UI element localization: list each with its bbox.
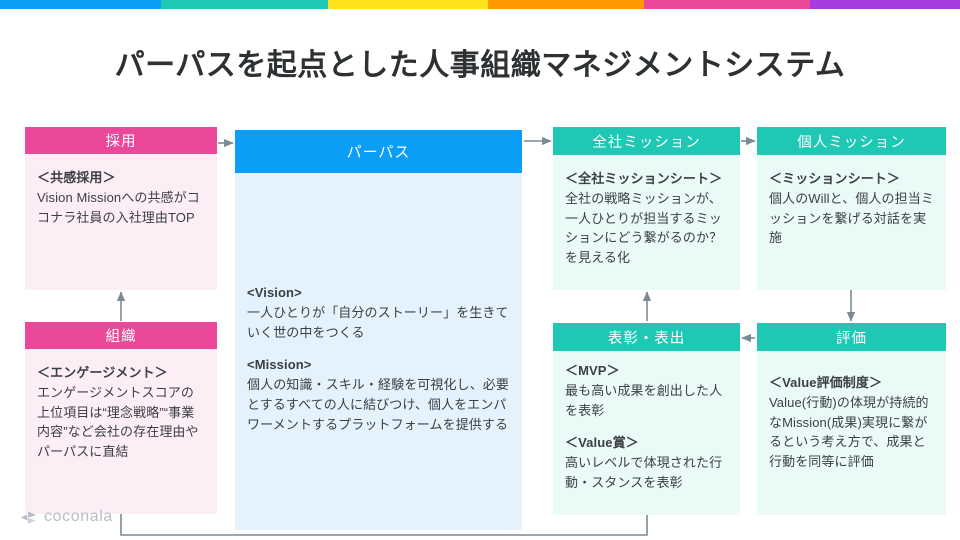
card-personal-mission-header: 個人ミッション <box>757 127 946 155</box>
card-evaluation[interactable]: 評価 ＜Value評価制度＞ Value(行動)の体現が持続的なMission(… <box>757 323 946 515</box>
page-title: パーパスを起点とした人事組織マネジメントシステム <box>0 40 960 84</box>
card-purpose-mission-lead: <Mission> <box>247 355 510 375</box>
card-evaluation-header: 評価 <box>757 323 946 351</box>
card-award-mvp-text: 最も高い成果を創出した人を表彰 <box>565 381 728 421</box>
top-bar-segment-yellow <box>328 0 488 9</box>
card-org-lead: ＜エンゲージメント＞ <box>37 363 205 383</box>
card-award-value-text: 高いレベルで体現された行動・スタンスを表彰 <box>565 453 728 493</box>
top-bar-segment-blue <box>0 0 161 9</box>
card-evaluation-body: ＜Value評価制度＞ Value(行動)の体現が持続的なMission(成果)… <box>757 351 946 515</box>
card-personal-mission-text: 個人のWillと、個人の担当ミッションを繋げる対話を実施 <box>769 189 934 248</box>
card-recruit-lead: ＜共感採用＞ <box>37 168 205 188</box>
card-recruit[interactable]: 採用 ＜共感採用＞ Vision Missionへの共感がココナラ社員の入社理由… <box>25 127 217 290</box>
top-bar-segment-pink <box>644 0 810 9</box>
card-purpose-body: <Vision> 一人ひとりが「自分のストーリー」を生きていく世の中をつくる <… <box>235 173 522 530</box>
card-purpose[interactable]: パーパス <Vision> 一人ひとりが「自分のストーリー」を生きていく世の中を… <box>235 130 522 530</box>
card-purpose-vision-text: 一人ひとりが「自分のストーリー」を生きていく世の中をつくる <box>247 303 510 343</box>
card-recruit-body: ＜共感採用＞ Vision Missionへの共感がココナラ社員の入社理由TOP <box>25 154 217 290</box>
card-company-mission-lead: ＜全社ミッションシート＞ <box>565 169 728 189</box>
card-org-text: エンゲージメントスコアの上位項目は“理念戦略”“事業内容”など会社の存在理由やパ… <box>37 383 205 462</box>
coconala-logo: coconala <box>20 508 113 526</box>
card-award-body: ＜MVP＞ 最も高い成果を創出した人を表彰 ＜Value賞＞ 高いレベルで体現さ… <box>553 351 740 515</box>
card-award[interactable]: 表彰・表出 ＜MVP＞ 最も高い成果を創出した人を表彰 ＜Value賞＞ 高いレ… <box>553 323 740 515</box>
coconala-wordmark: coconala <box>44 508 113 526</box>
card-company-mission[interactable]: 全社ミッション ＜全社ミッションシート＞ 全社の戦略ミッションが、一人ひとりが担… <box>553 127 740 290</box>
card-personal-mission[interactable]: 個人ミッション ＜ミッションシート＞ 個人のWillと、個人の担当ミッションを繋… <box>757 127 946 290</box>
top-bar-segment-orange <box>488 0 644 9</box>
card-award-mvp-lead: ＜MVP＞ <box>565 361 728 381</box>
card-personal-mission-body: ＜ミッションシート＞ 個人のWillと、個人の担当ミッションを繋げる対話を実施 <box>757 155 946 290</box>
card-purpose-spacer <box>247 342 510 355</box>
coconala-mark-icon <box>20 510 37 525</box>
card-purpose-header: パーパス <box>235 130 522 173</box>
card-company-mission-header: 全社ミッション <box>553 127 740 155</box>
card-purpose-mission-text: 個人の知識・スキル・経験を可視化し、必要とするすべての人に結びつけ、個人をエンパ… <box>247 375 510 434</box>
card-recruit-text: Vision Missionへの共感がココナラ社員の入社理由TOP <box>37 188 205 228</box>
card-org-header: 組織 <box>25 322 217 349</box>
card-org-body: ＜エンゲージメント＞ エンゲージメントスコアの上位項目は“理念戦略”“事業内容”… <box>25 349 217 514</box>
card-award-value-lead: ＜Value賞＞ <box>565 433 728 453</box>
card-company-mission-text: 全社の戦略ミッションが、一人ひとりが担当するミッションにどう繋がるのか？を見える… <box>565 189 728 268</box>
card-evaluation-lead: ＜Value評価制度＞ <box>769 373 934 393</box>
card-org[interactable]: 組織 ＜エンゲージメント＞ エンゲージメントスコアの上位項目は“理念戦略”“事業… <box>25 322 217 514</box>
card-recruit-header: 採用 <box>25 127 217 154</box>
card-award-header: 表彰・表出 <box>553 323 740 351</box>
top-bar-segment-teal <box>161 0 328 9</box>
card-evaluation-text: Value(行動)の体現が持続的なMission(成果)実現に繋がるという考え方… <box>769 393 934 472</box>
card-award-spacer <box>565 420 728 433</box>
card-company-mission-body: ＜全社ミッションシート＞ 全社の戦略ミッションが、一人ひとりが担当するミッション… <box>553 155 740 290</box>
card-purpose-vision-lead: <Vision> <box>247 283 510 303</box>
top-bar-segment-purple <box>810 0 960 9</box>
card-personal-mission-lead: ＜ミッションシート＞ <box>769 169 934 189</box>
top-color-bar <box>0 0 960 9</box>
